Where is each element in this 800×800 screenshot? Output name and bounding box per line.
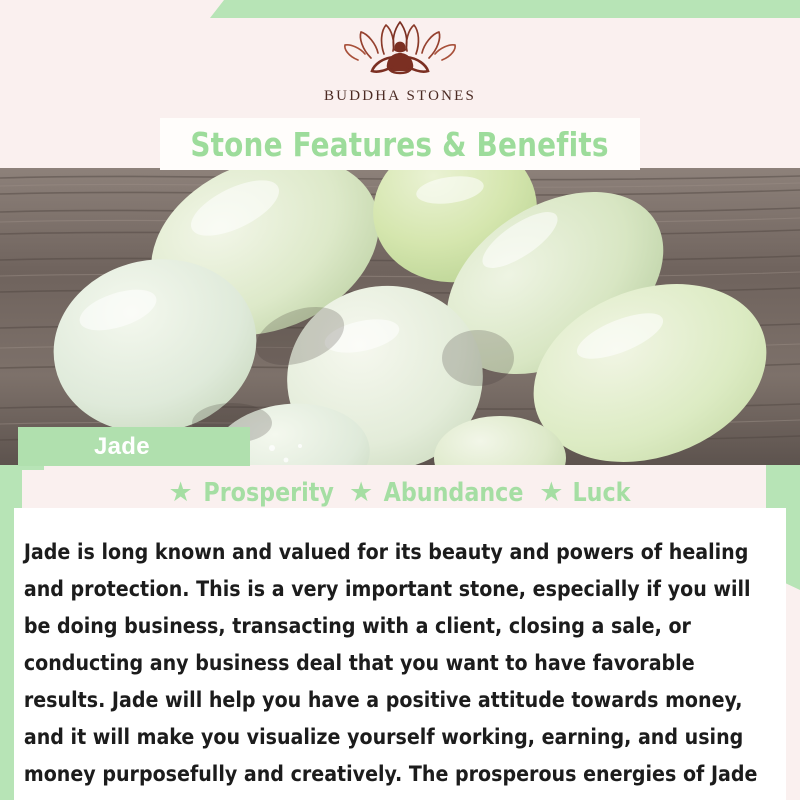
decorative-band-top	[210, 0, 800, 18]
infographic-page: BUDDHA STONES Stone Features & Benefits	[0, 0, 800, 800]
page-title: Stone Features & Benefits	[191, 125, 609, 164]
keyword-item-2: ★ Luck	[539, 478, 631, 508]
keyword-row: ★ Prosperity ★ Abundance ★ Luck	[0, 478, 800, 508]
keyword-label: Luck	[572, 478, 630, 508]
keyword-label: Prosperity	[203, 478, 333, 508]
stone-photo-image	[0, 168, 800, 465]
star-icon: ★	[169, 479, 193, 506]
description-text: Jade is long known and valued for its be…	[14, 532, 774, 800]
title-banner: Stone Features & Benefits	[160, 118, 640, 170]
brand-header: BUDDHA STONES	[0, 18, 800, 118]
brand-name: BUDDHA STONES	[324, 88, 476, 105]
keyword-item-0: ★ Prosperity	[169, 478, 338, 508]
stone-name-label: Jade	[18, 433, 150, 461]
stone-photo	[0, 168, 800, 465]
star-icon: ★	[539, 479, 563, 506]
star-icon: ★	[349, 479, 373, 506]
keyword-item-1: ★ Abundance	[349, 478, 527, 508]
description-card: Jade is long known and valued for its be…	[14, 508, 786, 800]
keyword-label: Abundance	[384, 478, 524, 508]
lotus-meditation-logo-icon	[338, 18, 462, 84]
stone-name-chip: Jade	[18, 427, 250, 466]
